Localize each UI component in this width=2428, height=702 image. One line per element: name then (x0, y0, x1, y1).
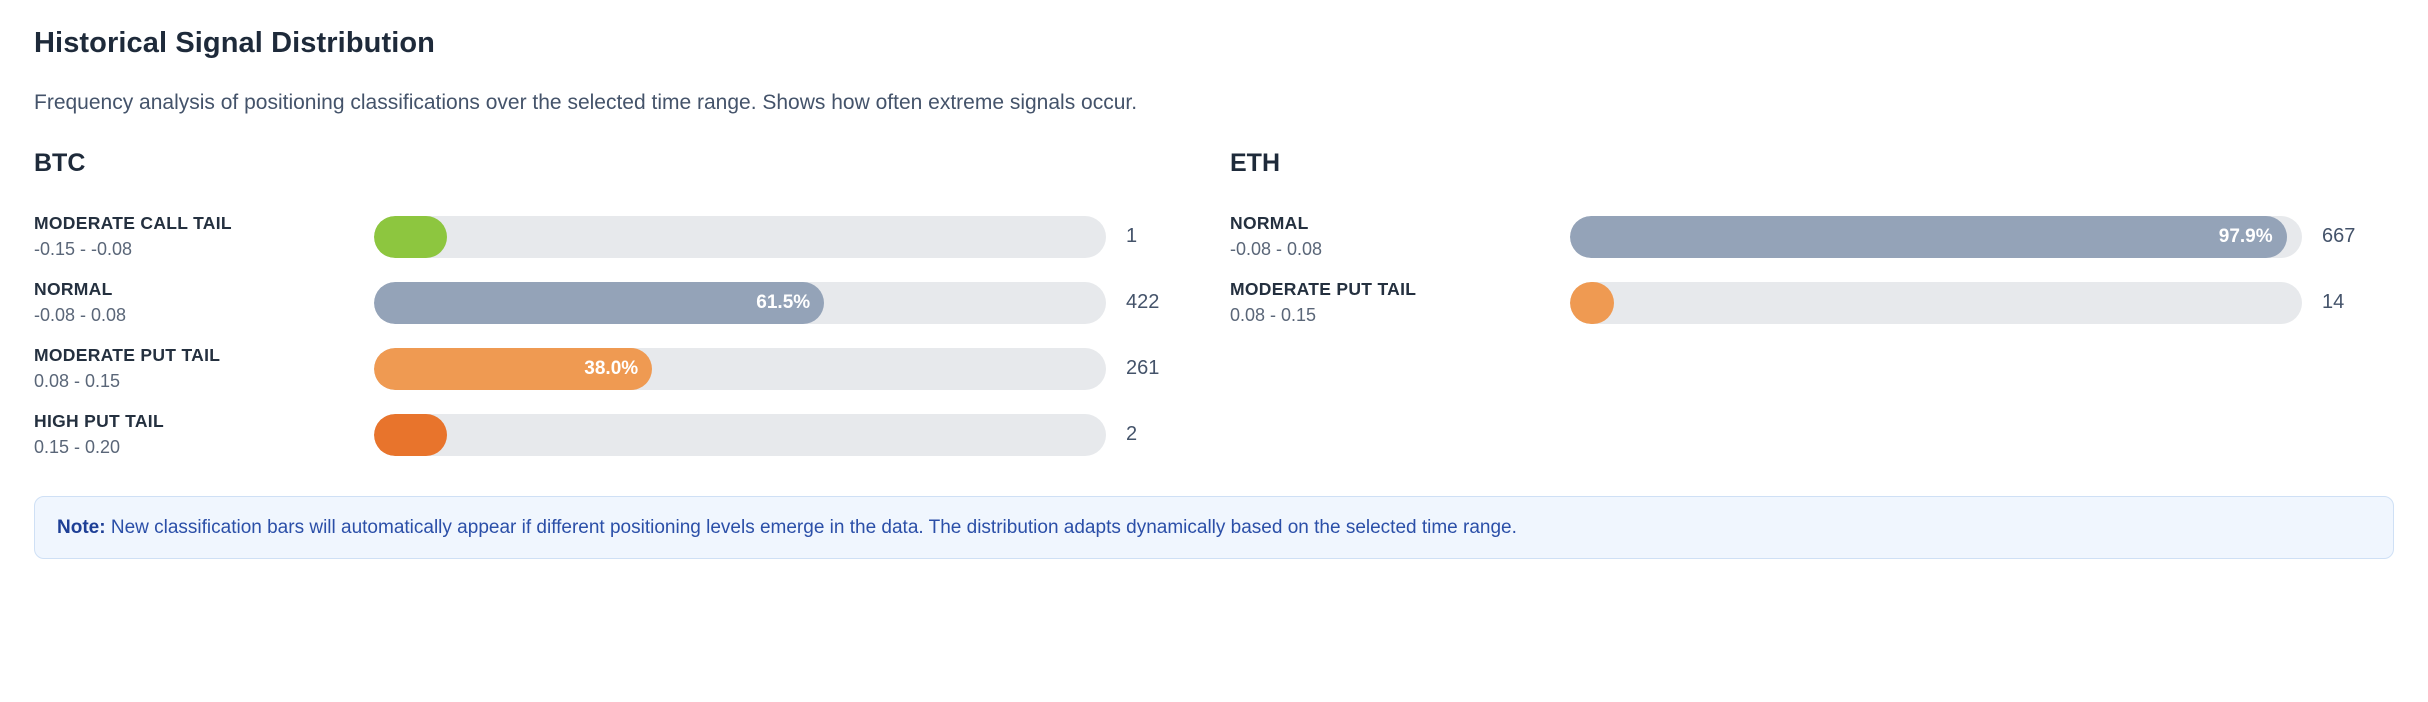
classification-name: HIGH PUT TAIL (34, 410, 362, 434)
bar-fill: 61.5% (374, 282, 824, 324)
bar-percent-label: 61.5% (756, 292, 810, 314)
info-note: Note: New classification bars will autom… (34, 496, 2394, 560)
row-label-group: MODERATE PUT TAIL 0.08 - 0.15 (1230, 278, 1570, 328)
bar-track: 61.5% (374, 282, 1106, 324)
classification-range: -0.08 - 0.08 (1230, 237, 1558, 261)
bar-fill (374, 216, 447, 258)
page-title: Historical Signal Distribution (34, 26, 2394, 61)
classification-range: 0.08 - 0.15 (34, 369, 362, 393)
historical-signal-distribution-panel: Historical Signal Distribution Frequency… (0, 0, 2428, 468)
classification-name: NORMAL (1230, 212, 1558, 236)
bar-fill (1570, 282, 1614, 324)
classification-range: -0.15 - -0.08 (34, 237, 362, 261)
distribution-row: NORMAL -0.08 - 0.08 97.9% 667 (1230, 204, 2426, 270)
row-label-group: MODERATE CALL TAIL -0.15 - -0.08 (34, 212, 374, 262)
row-label-group: NORMAL -0.08 - 0.08 (34, 278, 374, 328)
bar-track (374, 216, 1106, 258)
bar-count: 261 (1106, 357, 1230, 380)
bar-count: 1 (1106, 225, 1230, 248)
asset-title-eth: ETH (1230, 150, 2426, 178)
distribution-row: MODERATE CALL TAIL -0.15 - -0.08 1 (34, 204, 1230, 270)
bar-percent-label: 38.0% (584, 358, 638, 380)
distribution-row: NORMAL -0.08 - 0.08 61.5% 422 (34, 270, 1230, 336)
note-text: New classification bars will automatical… (106, 517, 1517, 538)
bar-count: 667 (2302, 225, 2426, 248)
bar-count: 422 (1106, 291, 1230, 314)
row-label-group: MODERATE PUT TAIL 0.08 - 0.15 (34, 344, 374, 394)
bar-fill (374, 414, 447, 456)
bar-fill: 97.9% (1570, 216, 2287, 258)
bar-track: 97.9% (1570, 216, 2302, 258)
bar-track (374, 414, 1106, 456)
distribution-row: HIGH PUT TAIL 0.15 - 0.20 2 (34, 402, 1230, 468)
classification-range: -0.08 - 0.08 (34, 303, 362, 327)
asset-column-btc: BTC MODERATE CALL TAIL -0.15 - -0.08 1 N… (34, 150, 1230, 468)
bar-percent-label: 97.9% (2219, 226, 2273, 248)
row-label-group: HIGH PUT TAIL 0.15 - 0.20 (34, 410, 374, 460)
classification-name: MODERATE CALL TAIL (34, 212, 362, 236)
classification-range: 0.08 - 0.15 (1230, 303, 1558, 327)
distribution-row: MODERATE PUT TAIL 0.08 - 0.15 38.0% 261 (34, 336, 1230, 402)
bar-count: 14 (2302, 291, 2426, 314)
bar-fill: 38.0% (374, 348, 652, 390)
classification-name: MODERATE PUT TAIL (1230, 278, 1558, 302)
note-label: Note: (57, 517, 106, 538)
page-subtitle: Frequency analysis of positioning classi… (34, 89, 2394, 116)
bar-count: 2 (1106, 423, 1230, 446)
classification-range: 0.15 - 0.20 (34, 435, 362, 459)
distribution-row: MODERATE PUT TAIL 0.08 - 0.15 14 (1230, 270, 2426, 336)
asset-title-btc: BTC (34, 150, 1230, 178)
bar-track: 38.0% (374, 348, 1106, 390)
bar-track (1570, 282, 2302, 324)
asset-columns: BTC MODERATE CALL TAIL -0.15 - -0.08 1 N… (34, 150, 2394, 468)
asset-column-eth: ETH NORMAL -0.08 - 0.08 97.9% 667 MODERA… (1230, 150, 2426, 468)
row-label-group: NORMAL -0.08 - 0.08 (1230, 212, 1570, 262)
classification-name: MODERATE PUT TAIL (34, 344, 362, 368)
classification-name: NORMAL (34, 278, 362, 302)
